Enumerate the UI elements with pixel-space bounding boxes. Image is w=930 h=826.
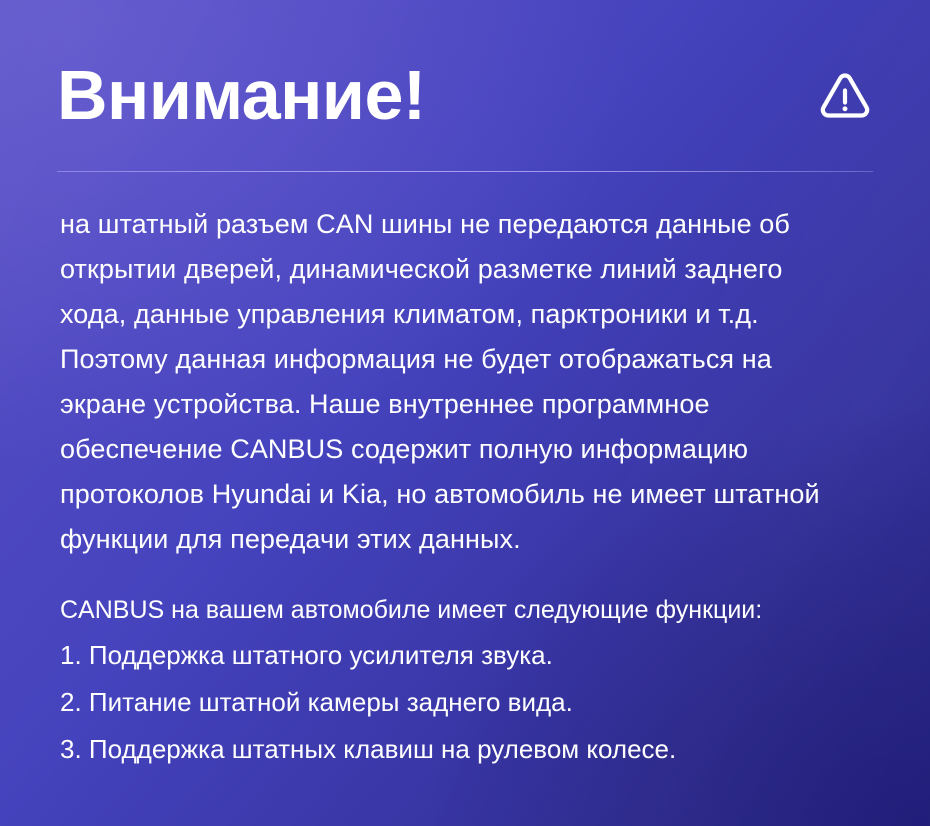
list-item: 3. Поддержка штатных клавиш на рулевом к… [60, 726, 890, 773]
banner-header: Внимание! [57, 52, 873, 138]
body-line: протоколов Hyundai и Kia, но автомобиль … [60, 472, 890, 517]
body-line: на штатный разъем CAN шины не передаются… [60, 202, 890, 247]
body-line: открытии дверей, динамической разметке л… [60, 247, 890, 292]
page-title: Внимание! [57, 52, 426, 138]
warning-triangle-icon [817, 67, 873, 123]
body-paragraph: на штатный разъем CAN шины не передаются… [60, 202, 890, 562]
body-line: обеспечение CANBUS содержит полную инфор… [60, 427, 890, 472]
warning-banner: Внимание! на штатный разъем CAN шины не … [0, 0, 930, 826]
functions-list: 1. Поддержка штатного усилителя звука. 2… [60, 632, 890, 773]
body-line: Поэтому данная информация не будет отобр… [60, 337, 890, 382]
body-line: функции для передачи этих данных. [60, 517, 890, 562]
functions-block: CANBUS на вашем автомобиле имеет следующ… [60, 588, 890, 773]
header-divider [57, 171, 873, 172]
functions-intro: CANBUS на вашем автомобиле имеет следующ… [60, 588, 890, 632]
body-line: экране устройства. Наше внутреннее прогр… [60, 382, 890, 427]
body-line: хода, данные управления климатом, парктр… [60, 292, 890, 337]
list-item: 1. Поддержка штатного усилителя звука. [60, 632, 890, 679]
list-item: 2. Питание штатной камеры заднего вида. [60, 679, 890, 726]
